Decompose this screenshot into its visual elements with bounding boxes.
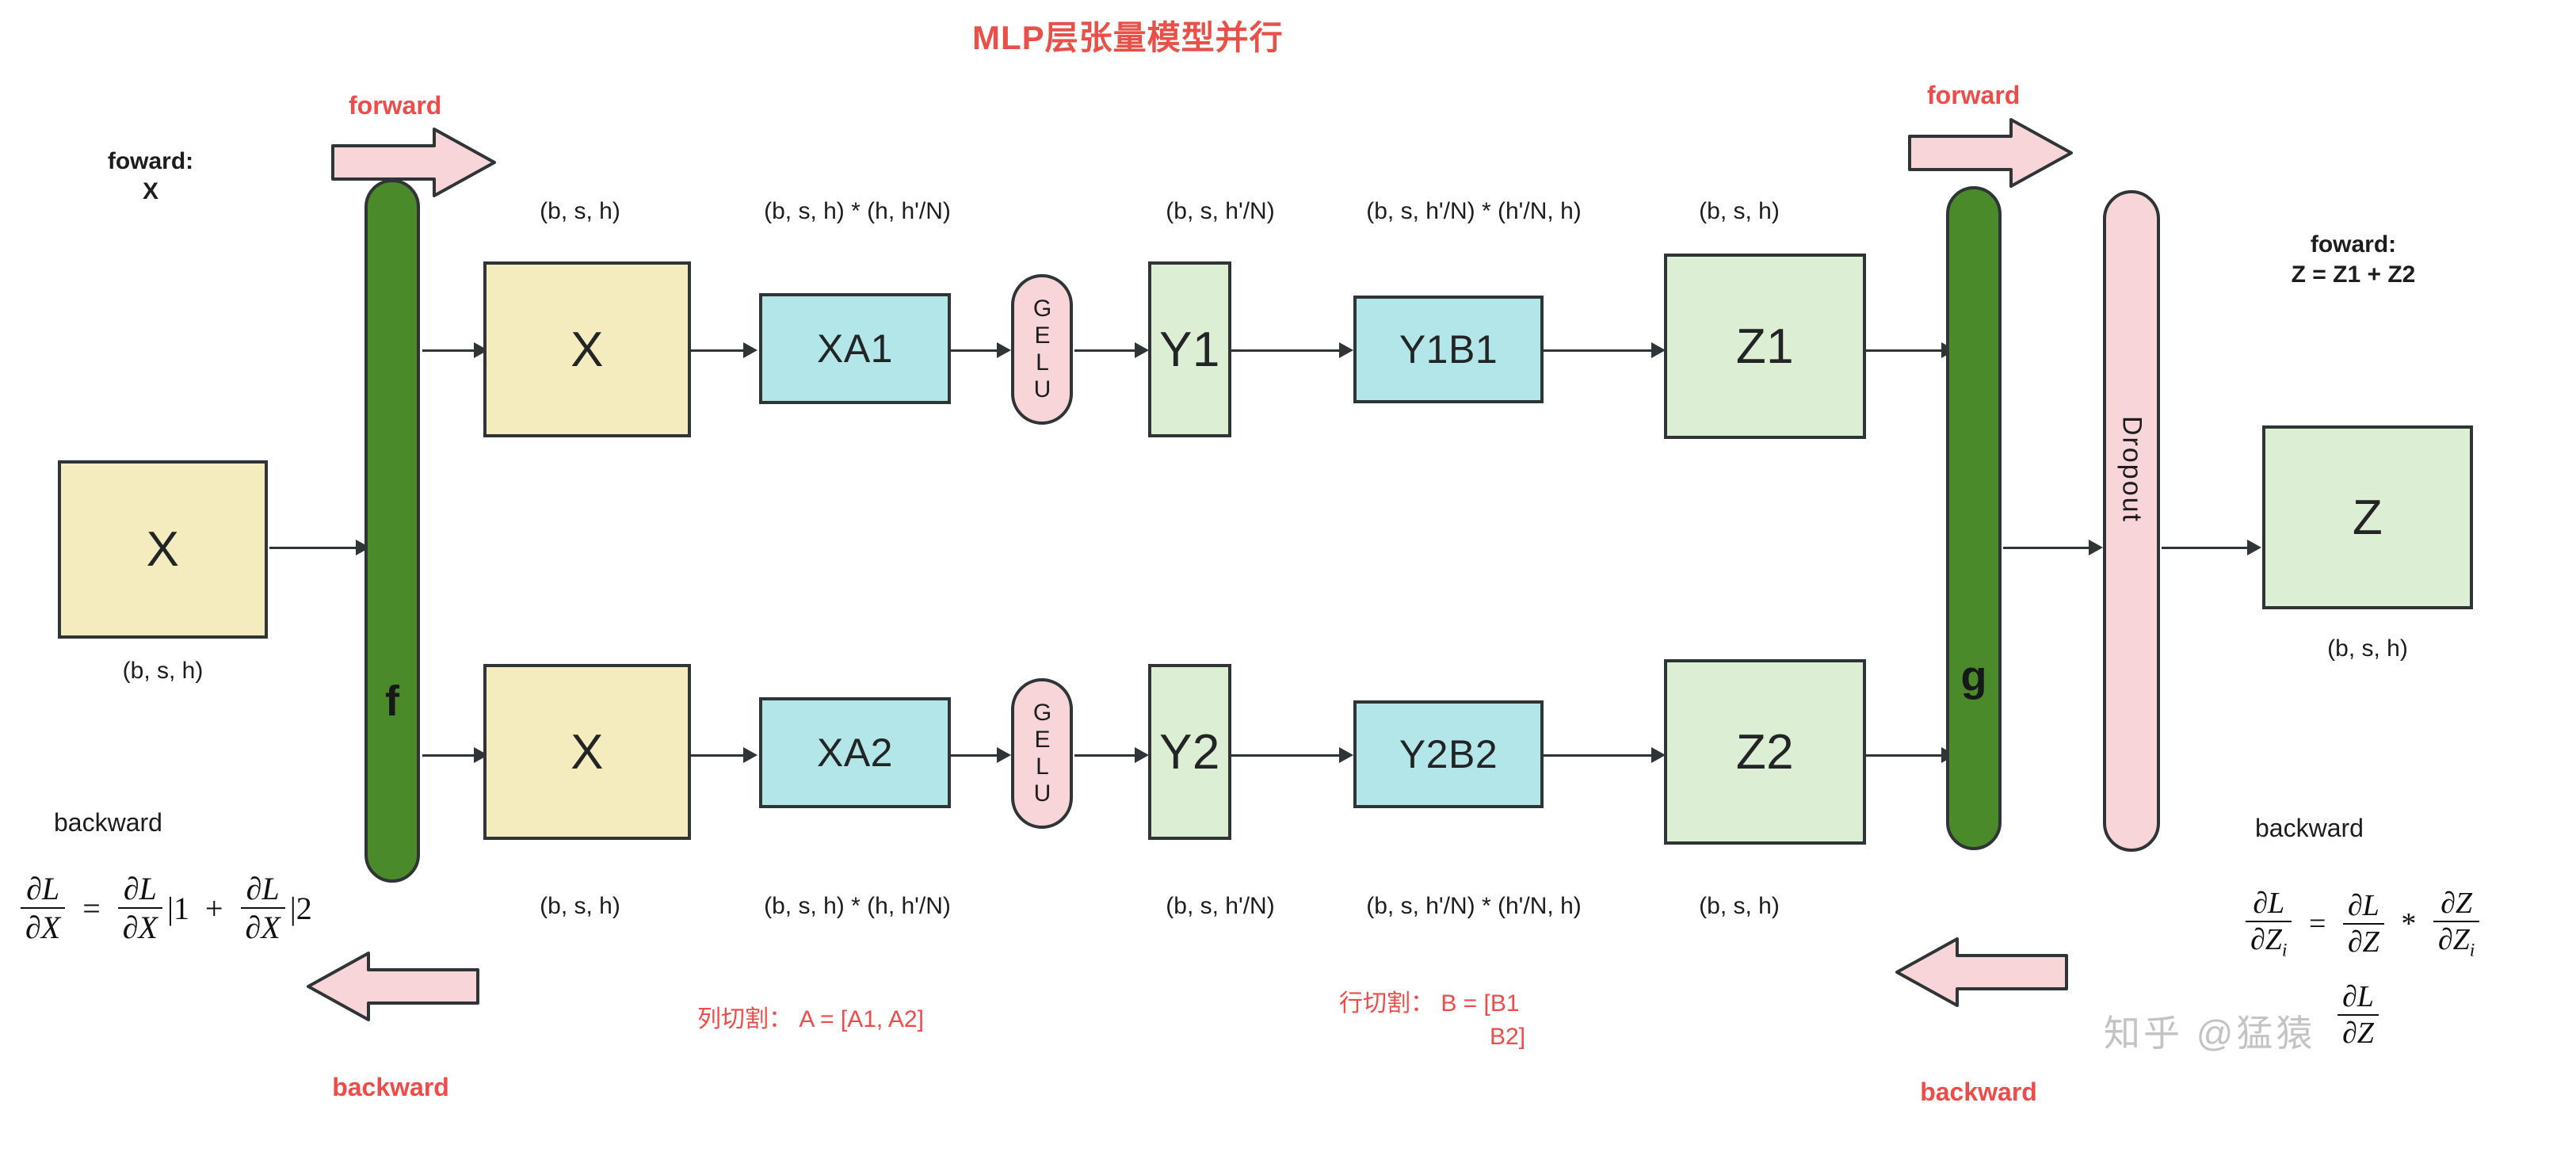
connector-gelu1-to-y1 xyxy=(1074,349,1138,352)
frac-num: ∂L xyxy=(2337,979,2379,1014)
branch2-node-yb: Y2B2 xyxy=(1353,700,1544,808)
branch2-node-y: Y2 xyxy=(1148,664,1231,840)
arrowhead-gelu1-to-y1 xyxy=(1135,342,1149,358)
arrowhead-x2-to-xa2 xyxy=(743,747,758,763)
frac-dl-dx-term2: ∂L ∂X xyxy=(241,870,285,946)
watermark: 知乎 @猛猿 xyxy=(2104,1005,2315,1057)
term2-bar: |2 xyxy=(290,891,312,926)
forward-block-arrow-right xyxy=(1908,117,2074,189)
plus-sign: + xyxy=(205,891,223,926)
branch2-node-gelu: GELU xyxy=(1011,678,1073,829)
dropout-label: Dropout xyxy=(2116,416,2147,523)
forward-block-arrow-left xyxy=(331,127,498,198)
annotation-row-split-line2: B2] xyxy=(1490,1022,1525,1052)
frac-num: ∂L xyxy=(2248,886,2289,921)
arrowhead-g-to-dropout xyxy=(2089,540,2103,555)
backward-label-right-plain: backward xyxy=(2255,812,2364,845)
frac-dl-dx-lhs: ∂L ∂X xyxy=(21,870,65,946)
forward-note-right-line1: foward: xyxy=(2234,230,2472,260)
g-pill: g xyxy=(1946,186,2002,850)
backward-block-arrow-left xyxy=(305,951,479,1022)
output-shape-label: (b, s, h) xyxy=(2262,634,2473,664)
branch2-gelu-label: GELU xyxy=(1028,700,1055,807)
branch1-node-z: Z1 xyxy=(1664,254,1866,439)
branch2-shape-4: (b, s, h'/N) * (h'/N, h) xyxy=(1315,891,1632,921)
frac-den: ∂X xyxy=(241,907,285,946)
f-pill: f xyxy=(364,179,420,883)
frac-dl-dzi-lhs: ∂L ∂Zi xyxy=(2246,886,2292,962)
forward-label-right: forward xyxy=(1927,79,2020,112)
term1-bar: |1 xyxy=(167,891,189,926)
connector-x2-to-xa2 xyxy=(691,754,746,757)
equals-sign-right: = xyxy=(2309,907,2326,940)
connector-y2-to-y2b2 xyxy=(1231,754,1342,757)
times-sign: * xyxy=(2401,907,2416,940)
frac-den: ∂Z xyxy=(2343,923,2384,960)
frac-den-sub: i xyxy=(2282,940,2288,961)
branch2-shape-5: (b, s, h) xyxy=(1640,891,1838,921)
forward-note-right-line2: Z = Z1 + Z2 xyxy=(2234,260,2472,290)
f-pill-label: f xyxy=(385,677,399,726)
frac-den-sub: i xyxy=(2470,940,2475,961)
forward-note-left: foward: X xyxy=(79,147,222,208)
frac-dl-dz: ∂L ∂Z xyxy=(2343,888,2384,960)
arrowhead-xa2-to-gelu2 xyxy=(997,747,1011,763)
branch1-shape-3: (b, s, h'/N) xyxy=(1109,196,1331,227)
frac-num: ∂L xyxy=(21,870,64,907)
arrowhead-dropout-to-z xyxy=(2247,540,2261,555)
connector-f-to-x1 xyxy=(422,349,478,352)
branch1-node-gelu: GELU xyxy=(1011,274,1073,425)
frac-num: ∂L xyxy=(242,870,284,907)
branch1-shape-2: (b, s, h) * (h, h'/N) xyxy=(723,196,992,227)
frac-den-text: ∂Z xyxy=(2250,923,2282,956)
branch1-shape-5: (b, s, h) xyxy=(1640,196,1838,227)
input-box-x: X xyxy=(58,460,268,639)
g-pill-label: g xyxy=(1961,652,1987,701)
input-shape-label: (b, s, h) xyxy=(58,656,268,686)
branch1-node-y: Y1 xyxy=(1148,261,1231,437)
frac-den-text: ∂Z xyxy=(2438,923,2470,956)
branch2-shape-2: (b, s, h) * (h, h'/N) xyxy=(723,891,992,921)
dropout-pill: Dropout xyxy=(2103,190,2160,852)
forward-label-left: forward xyxy=(349,90,441,122)
arrowhead-x1-to-xa1 xyxy=(743,342,758,358)
arrowhead-y2-to-y2b2 xyxy=(1339,747,1353,763)
page-title: MLP层张量模型并行 xyxy=(972,11,1284,59)
frac-num: ∂L xyxy=(2343,888,2384,923)
frac-den: ∂Zi xyxy=(2433,921,2479,962)
frac-dz-dzi: ∂Z ∂Zi xyxy=(2433,886,2479,962)
equals-sign: = xyxy=(82,891,101,926)
branch1-node-xa: XA1 xyxy=(759,293,951,404)
backward-formula-right-line2: ∂L ∂Z xyxy=(2334,979,2382,1051)
connector-y2b2-to-z2 xyxy=(1544,754,1654,757)
branch1-gelu-label: GELU xyxy=(1028,296,1055,403)
branch2-node-xa: XA2 xyxy=(759,697,951,808)
branch2-shape-3: (b, s, h'/N) xyxy=(1109,891,1331,921)
annotation-col-split: 列切割： A = [A1, A2] xyxy=(697,1005,924,1035)
branch1-shape-1: (b, s, h) xyxy=(485,196,675,227)
frac-num: ∂Z xyxy=(2436,886,2477,921)
frac-den: ∂X xyxy=(118,907,162,946)
connector-f-to-x2 xyxy=(422,754,478,757)
backward-label-left-plain: backward xyxy=(54,807,162,839)
connector-g-to-dropout xyxy=(2003,547,2094,549)
backward-label-left-red: backward xyxy=(300,1071,482,1104)
diagram-canvas: MLP层张量模型并行 forward foward: X X (b, s, h)… xyxy=(0,0,2576,1156)
annotation-row-split-line1: 行切割： B = [B1 xyxy=(1339,989,1520,1019)
backward-block-arrow-right xyxy=(1894,937,2068,1008)
frac-dl-dx-term1: ∂L ∂X xyxy=(118,870,162,946)
backward-label-right-red: backward xyxy=(1887,1076,2070,1108)
branch2-shape-1: (b, s, h) xyxy=(485,891,675,921)
frac-den: ∂Zi xyxy=(2246,921,2292,962)
frac-den: ∂Z xyxy=(2337,1014,2379,1051)
frac-dl-dz-line2: ∂L ∂Z xyxy=(2337,979,2379,1051)
backward-formula-right: ∂L ∂Zi = ∂L ∂Z * ∂Z ∂Zi xyxy=(2242,886,2483,962)
connector-xa2-to-gelu2 xyxy=(951,754,1000,757)
branch1-shape-4: (b, s, h'/N) * (h'/N, h) xyxy=(1315,196,1632,227)
output-box-z: Z xyxy=(2262,425,2473,609)
frac-den: ∂X xyxy=(21,907,65,946)
branch2-node-x: X xyxy=(483,664,691,840)
connector-gelu2-to-y2 xyxy=(1074,754,1138,757)
forward-note-right: foward: Z = Z1 + Z2 xyxy=(2234,230,2472,291)
connector-y1-to-y1b1 xyxy=(1231,349,1342,352)
forward-note-left-line1: foward: xyxy=(79,147,222,177)
connector-y1b1-to-z1 xyxy=(1544,349,1654,352)
backward-formula-left: ∂L ∂X = ∂L ∂X |1 + ∂L ∂X |2 xyxy=(17,870,314,946)
branch2-node-z: Z2 xyxy=(1664,659,1866,845)
connector-dropout-to-z xyxy=(2162,547,2253,549)
connector-x1-to-xa1 xyxy=(691,349,746,352)
frac-num: ∂L xyxy=(119,870,162,907)
branch1-node-yb: Y1B1 xyxy=(1353,296,1544,403)
connector-x-to-f xyxy=(269,547,358,549)
branch1-node-x: X xyxy=(483,261,691,437)
connector-xa1-to-gelu1 xyxy=(951,349,1000,352)
arrowhead-xa1-to-gelu1 xyxy=(997,342,1011,358)
forward-note-left-line2: X xyxy=(79,177,222,207)
arrowhead-gelu2-to-y2 xyxy=(1135,747,1149,763)
arrowhead-y1-to-y1b1 xyxy=(1339,342,1353,358)
